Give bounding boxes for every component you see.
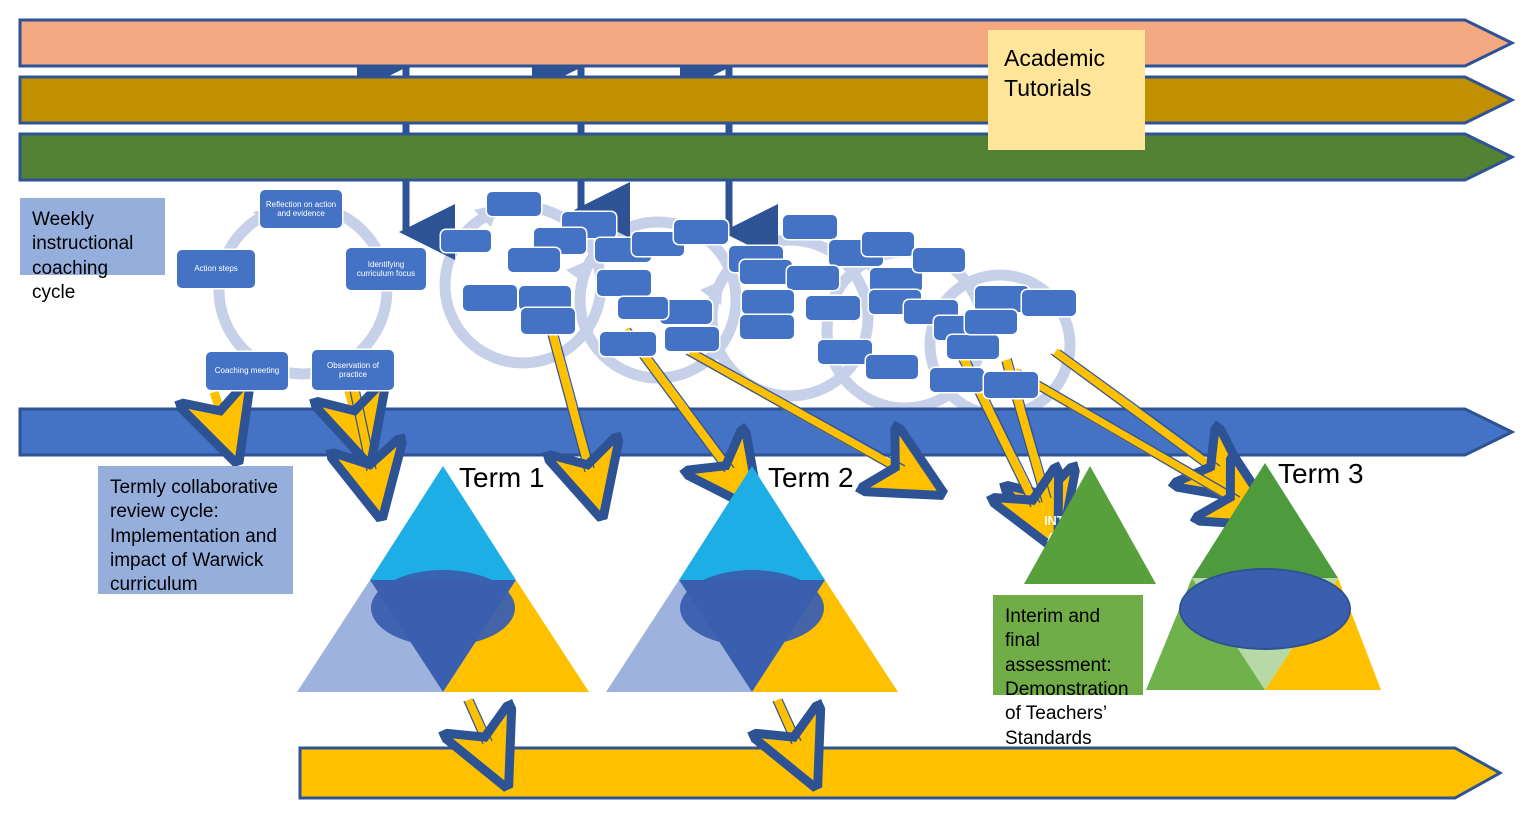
term-1-centre-ellipse: [371, 570, 515, 646]
term-3-centre-ellipse: [1180, 569, 1350, 649]
term-3-top-section: [1192, 463, 1338, 578]
term-2-triangle[interactable]: [606, 466, 898, 692]
term-1-top-section: [370, 466, 516, 580]
term-1-triangle[interactable]: [297, 466, 589, 692]
term-2-top-section: [679, 466, 825, 580]
interim-final-assessment-triangle[interactable]: [1024, 466, 1156, 584]
term-3-triangle[interactable]: [1146, 463, 1381, 690]
triangles-layer: [0, 0, 1525, 815]
diagram-canvas: The Just Teacher curriculum strand (mapp…: [0, 0, 1525, 815]
interim-triangle-shape: [1024, 466, 1156, 584]
content-layer: Academic Tutorials Weekly instructional …: [0, 0, 1525, 815]
term-2-centre-ellipse: [680, 570, 824, 646]
